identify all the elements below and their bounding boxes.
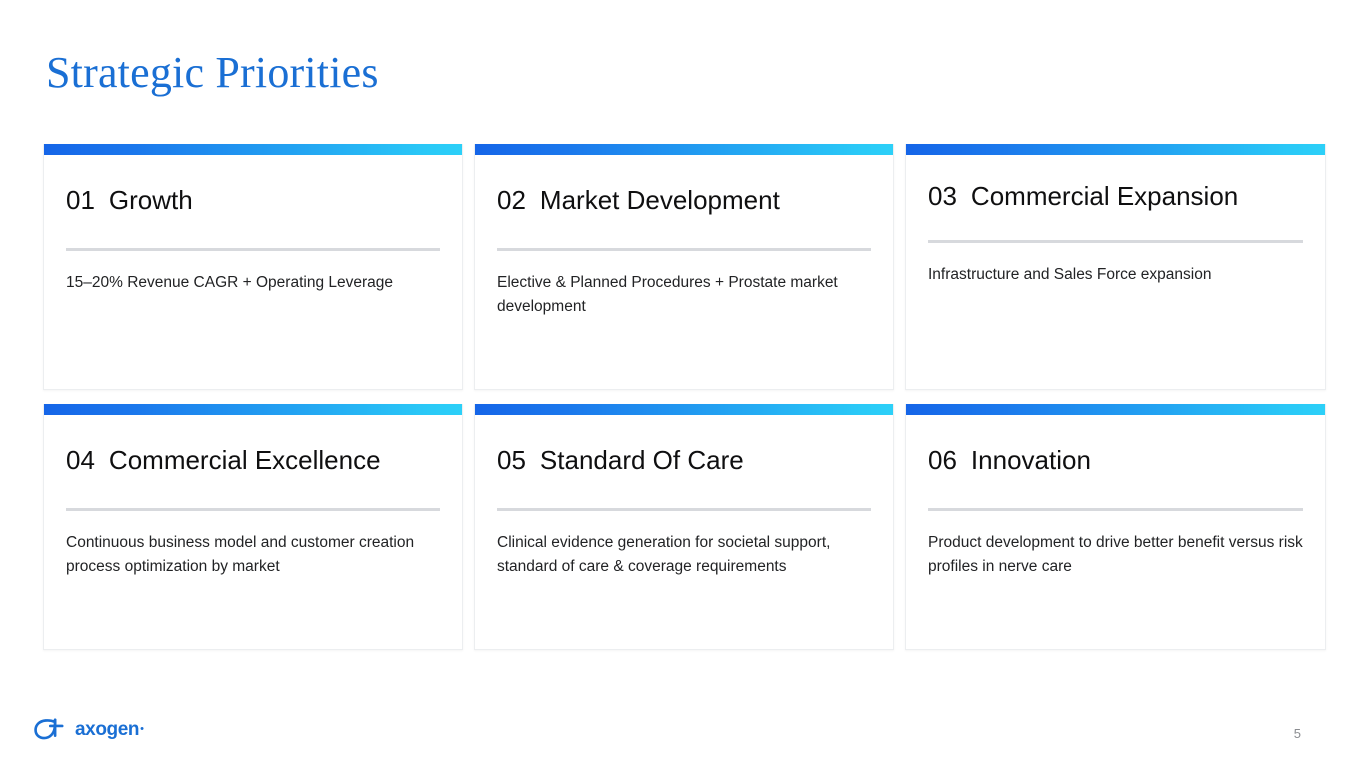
card-description: Continuous business model and customer c… [66, 531, 440, 579]
priority-card-02[interactable]: 02 Market Development Elective & Planned… [474, 144, 894, 390]
card-number: 04 [66, 445, 95, 476]
card-title: Growth [109, 185, 193, 216]
card-body: 02 Market Development Elective & Planned… [475, 155, 893, 389]
card-number: 02 [497, 185, 526, 216]
priority-card-03[interactable]: 03 Commercial Expansion Infrastructure a… [905, 144, 1326, 390]
card-title: Innovation [971, 445, 1091, 476]
card-number: 01 [66, 185, 95, 216]
card-divider [497, 248, 871, 251]
priority-card-grid: 01 Growth 15–20% Revenue CAGR + Operatin… [43, 144, 1326, 650]
card-accent-bar [44, 144, 462, 155]
card-title: Standard Of Care [540, 445, 744, 476]
card-title: Commercial Expansion [971, 181, 1238, 212]
card-description: Elective & Planned Procedures + Prostate… [497, 271, 852, 319]
card-description: Infrastructure and Sales Force expansion [928, 263, 1303, 287]
card-divider [497, 508, 871, 511]
card-header: 02 Market Development [497, 185, 871, 216]
card-body: 06 Innovation Product development to dri… [906, 415, 1325, 649]
card-accent-bar [906, 404, 1325, 415]
card-accent-bar [475, 144, 893, 155]
card-body: 01 Growth 15–20% Revenue CAGR + Operatin… [44, 155, 462, 389]
priority-card-04[interactable]: 04 Commercial Excellence Continuous busi… [43, 404, 463, 650]
page-title: Strategic Priorities [46, 50, 379, 96]
card-number: 03 [928, 181, 957, 212]
card-accent-bar [475, 404, 893, 415]
card-title: Market Development [540, 185, 780, 216]
card-body: 03 Commercial Expansion Infrastructure a… [906, 155, 1325, 389]
card-body: 04 Commercial Excellence Continuous busi… [44, 415, 462, 649]
card-body: 05 Standard Of Care Clinical evidence ge… [475, 415, 893, 649]
brand-trademark-icon: • [140, 724, 144, 735]
card-description: 15–20% Revenue CAGR + Operating Leverage [66, 271, 421, 295]
card-divider [66, 508, 440, 511]
page-number: 5 [1294, 726, 1301, 741]
card-accent-bar [44, 404, 462, 415]
card-divider [928, 508, 1303, 511]
card-divider [928, 240, 1303, 243]
axogen-alpha-icon [32, 714, 66, 744]
brand-logo: axogen • [32, 712, 144, 746]
card-description: Product development to drive better bene… [928, 531, 1303, 579]
card-divider [66, 248, 440, 251]
card-accent-bar [906, 144, 1325, 155]
card-number: 06 [928, 445, 957, 476]
priority-card-01[interactable]: 01 Growth 15–20% Revenue CAGR + Operatin… [43, 144, 463, 390]
card-header: 04 Commercial Excellence [66, 445, 440, 476]
priority-card-06[interactable]: 06 Innovation Product development to dri… [905, 404, 1326, 650]
card-number: 05 [497, 445, 526, 476]
card-header: 06 Innovation [928, 445, 1303, 476]
brand-wordmark: axogen [75, 720, 139, 739]
card-header: 05 Standard Of Care [497, 445, 871, 476]
card-title: Commercial Excellence [109, 445, 381, 476]
card-description: Clinical evidence generation for societa… [497, 531, 852, 579]
card-header: 03 Commercial Expansion [928, 181, 1303, 212]
priority-card-05[interactable]: 05 Standard Of Care Clinical evidence ge… [474, 404, 894, 650]
card-header: 01 Growth [66, 185, 440, 216]
